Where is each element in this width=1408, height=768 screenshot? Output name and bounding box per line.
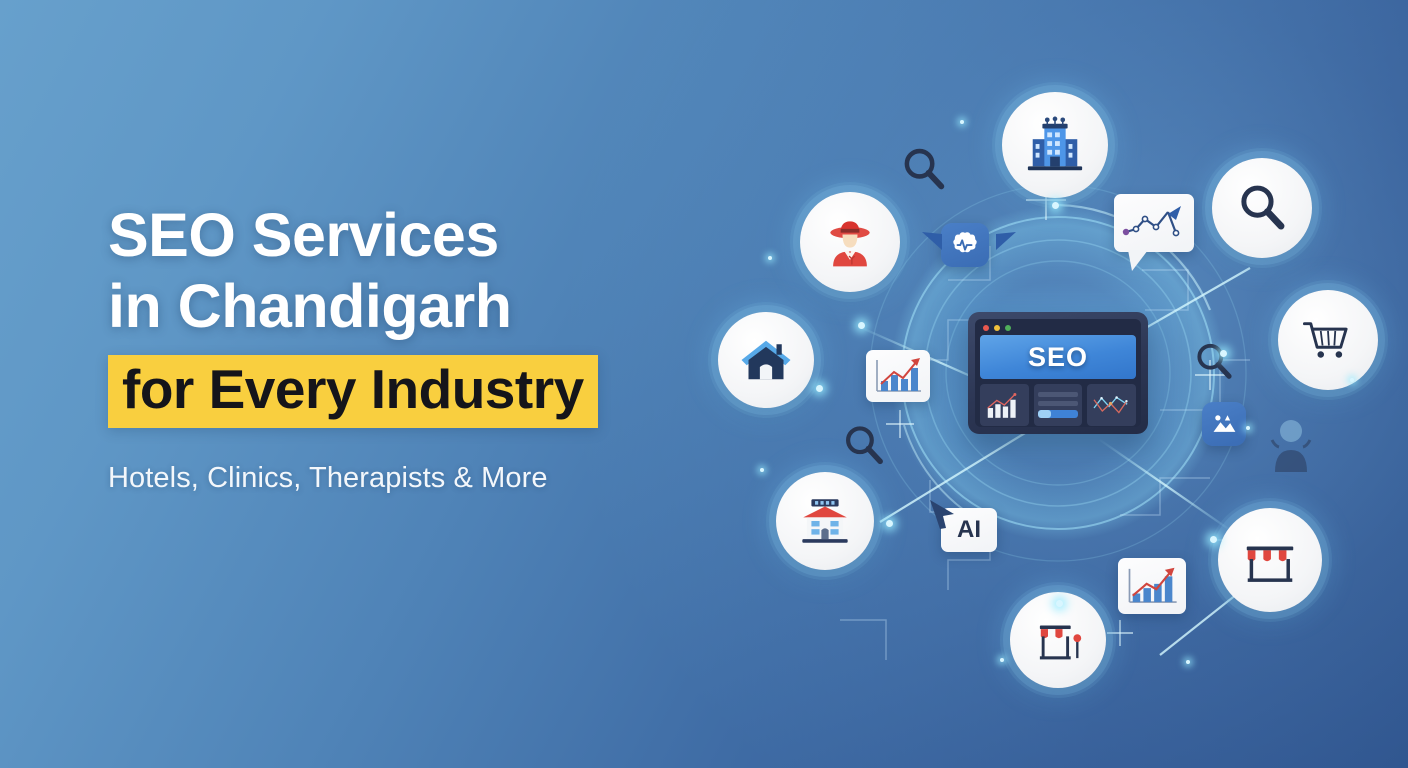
connector-spark	[1210, 536, 1217, 543]
image-mountain-icon	[1210, 410, 1238, 438]
dashboard-inner: SEO	[975, 319, 1141, 427]
bar-chart-card-icon	[870, 354, 926, 398]
therapist-person-icon	[820, 212, 880, 272]
connector-spark	[1052, 202, 1059, 209]
bar-chart-panel	[980, 384, 1029, 426]
window-controls[interactable]	[980, 324, 1136, 335]
connector-spark	[1000, 658, 1004, 662]
node-ecommerce[interactable]	[1278, 290, 1378, 390]
node-clinic[interactable]	[776, 472, 874, 570]
connector-spark	[760, 468, 764, 472]
text-lines-panel	[1034, 384, 1083, 426]
node-therapist[interactable]	[800, 192, 900, 292]
headline-line-2: in Chandigarh	[108, 271, 728, 342]
connector-spark	[1220, 350, 1227, 357]
seo-services-banner: SEO Services in Chandigarh for Every Ind…	[0, 0, 1408, 768]
window-maximize-dot[interactable]	[1005, 325, 1011, 331]
window-minimize-dot[interactable]	[994, 325, 1000, 331]
seo-network-illustration: SEO	[690, 60, 1408, 740]
bar-chart-card-right[interactable]	[1118, 558, 1186, 614]
seo-label: SEO	[980, 335, 1136, 379]
connector-spark	[858, 322, 865, 329]
subtitle: Hotels, Clinics, Therapists & More	[108, 462, 728, 495]
text-line	[1038, 392, 1079, 397]
text-line	[1038, 401, 1079, 406]
connector-spark	[1246, 426, 1250, 430]
progress-fill	[1038, 410, 1051, 418]
hotel-building-icon	[1024, 114, 1086, 176]
home-icon	[738, 332, 794, 388]
magnifier-top-icon	[896, 142, 954, 200]
speech-bubble-trend[interactable]	[1114, 194, 1194, 252]
bar-chart-card-left[interactable]	[866, 350, 930, 402]
badge-wings	[922, 232, 1016, 264]
headline-line-1: SEO Services	[108, 200, 728, 271]
bar-chart-icon	[984, 388, 1025, 422]
speech-bubble-tail	[1126, 250, 1152, 272]
seo-dashboard-window[interactable]: SEO	[968, 312, 1148, 434]
headline-highlight: for Every Industry	[108, 355, 598, 429]
node-hotel[interactable]	[1002, 92, 1108, 198]
ai-tag-label: AI	[957, 516, 981, 544]
image-badge[interactable]	[1202, 402, 1246, 446]
dual-line-chart-icon	[1091, 388, 1132, 422]
magnifier-mid-icon	[1190, 338, 1240, 388]
hero-copy-block: SEO Services in Chandigarh for Every Ind…	[108, 200, 728, 495]
connector-spark	[1350, 378, 1354, 382]
speech-bubble-trend-icon	[1118, 198, 1190, 248]
connector-spark	[886, 520, 893, 527]
connector-spark	[960, 120, 964, 124]
magnifier-low-icon	[838, 420, 892, 474]
connector-spark	[768, 256, 772, 260]
magnifier-icon	[1233, 179, 1291, 237]
connector-spark	[816, 385, 823, 392]
shopping-cart-icon	[1299, 311, 1357, 369]
page-title: SEO Services in Chandigarh	[108, 200, 728, 343]
connector-spark	[1186, 660, 1190, 664]
highlight-wrapper: for Every Industry	[108, 355, 728, 429]
storefront-icon	[1239, 529, 1301, 591]
connector-spark	[1056, 600, 1063, 607]
node-search[interactable]	[1212, 158, 1312, 258]
node-storefront[interactable]	[1218, 508, 1322, 612]
cursor-arrow-icon	[926, 498, 960, 532]
person-silhouette-icon	[1268, 418, 1314, 472]
clinic-building-icon	[796, 492, 854, 550]
node-home[interactable]	[718, 312, 814, 408]
dashboard-panels	[980, 384, 1136, 426]
line-chart-panel	[1087, 384, 1136, 426]
shop-awning-icon	[1029, 611, 1087, 669]
progress-bar[interactable]	[1038, 410, 1079, 418]
bar-chart-card-icon	[1122, 562, 1182, 610]
window-close-dot[interactable]	[983, 325, 989, 331]
